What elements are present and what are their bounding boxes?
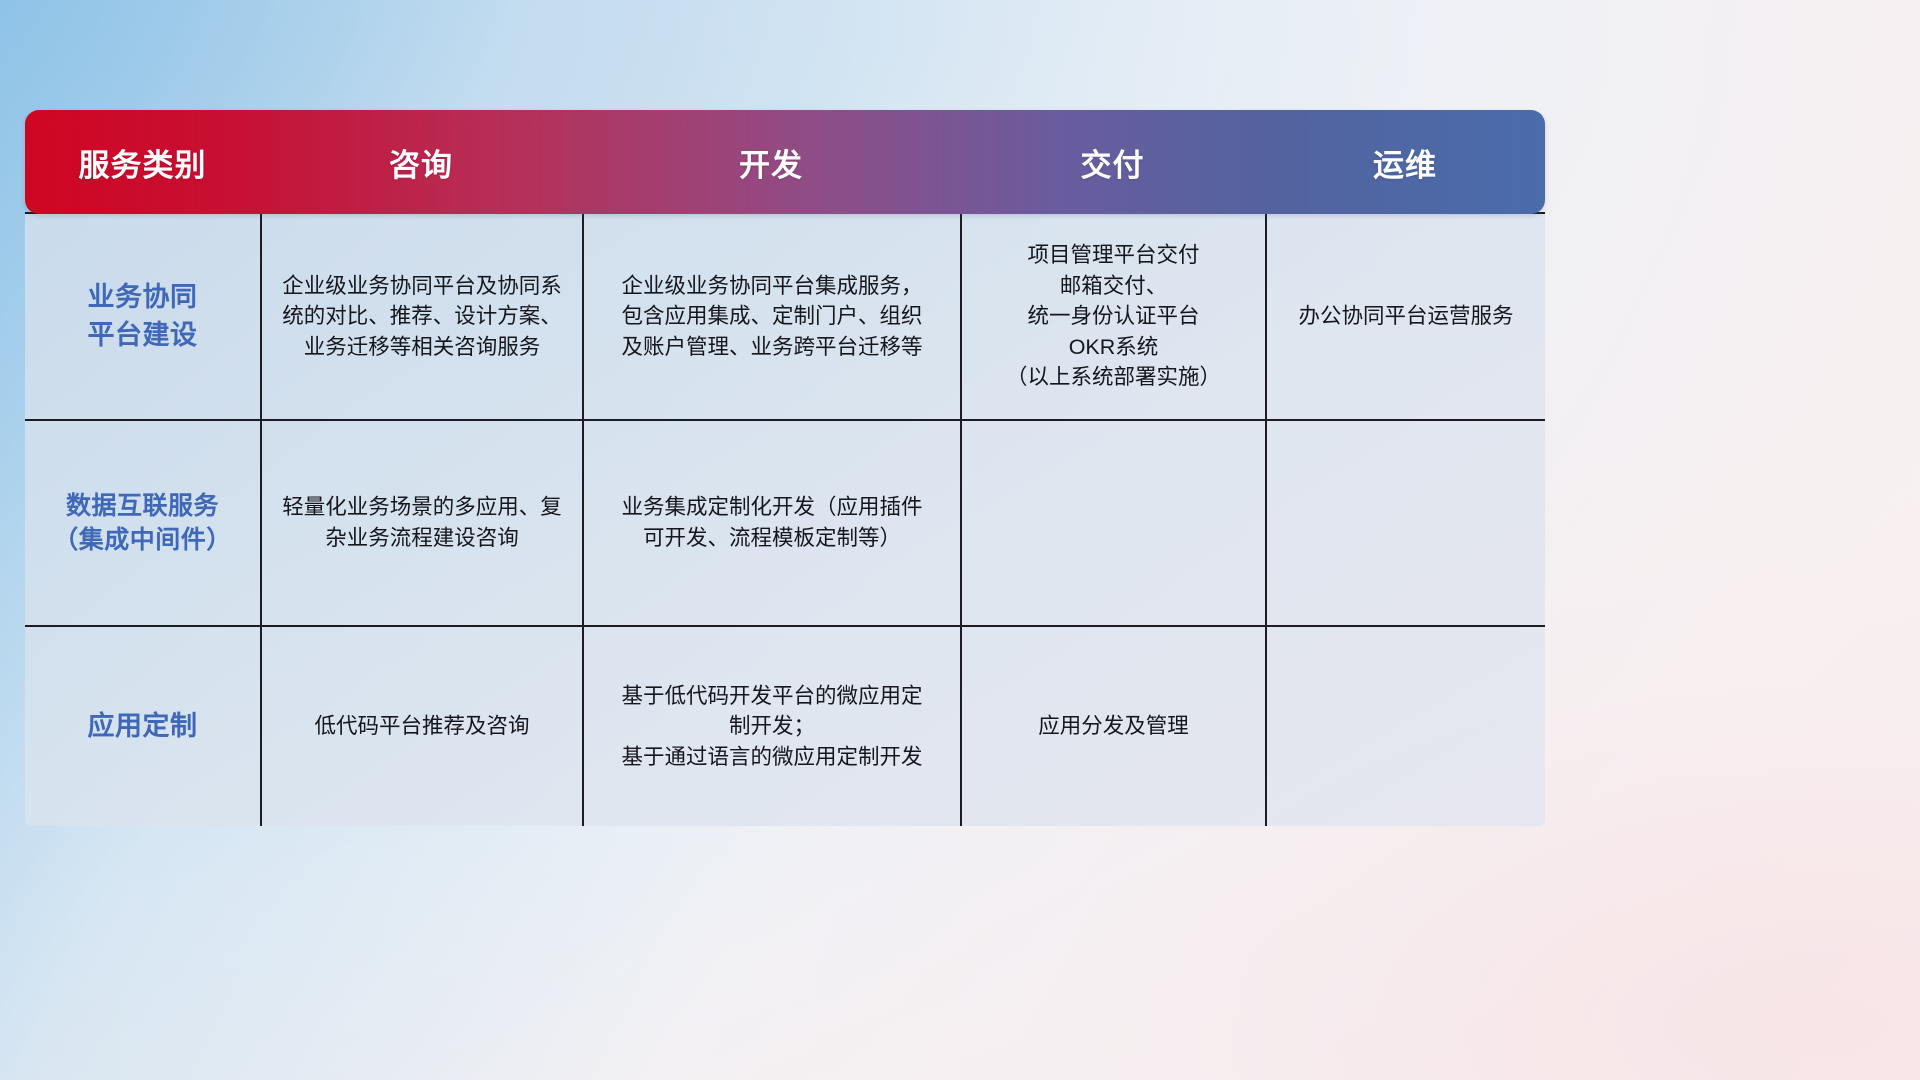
table-body: 业务协同 平台建设 企业级业务协同平台及协同系 统的对比、推荐、设计方案、 业务… <box>25 212 1545 826</box>
row-category-label: 数据互联服务 （集成中间件） <box>25 421 260 625</box>
column-header-development: 开发 <box>582 140 960 185</box>
cell-consulting: 企业级业务协同平台及协同系 统的对比、推荐、设计方案、 业务迁移等相关咨询服务 <box>260 214 582 419</box>
cell-operations: 办公协同平台运营服务 <box>1265 214 1545 419</box>
cell-development: 业务集成定制化开发（应用插件 可开发、流程模板定制等） <box>582 421 960 625</box>
cell-development: 基于低代码开发平台的微应用定 制开发； 基于通过语言的微应用定制开发 <box>582 627 960 826</box>
column-header-consulting: 咨询 <box>260 140 582 185</box>
cell-development: 企业级业务协同平台集成服务， 包含应用集成、定制门户、组织 及账户管理、业务跨平… <box>582 214 960 419</box>
cell-delivery: 项目管理平台交付 邮箱交付、 统一身份认证平台 OKR系统 （以上系统部署实施） <box>960 214 1265 419</box>
table-header-row: 服务类别 咨询 开发 交付 运维 <box>25 110 1545 214</box>
table-row: 应用定制 低代码平台推荐及咨询 基于低代码开发平台的微应用定 制开发； 基于通过… <box>25 625 1545 826</box>
table-row: 业务协同 平台建设 企业级业务协同平台及协同系 统的对比、推荐、设计方案、 业务… <box>25 212 1545 419</box>
row-category-label: 应用定制 <box>25 627 260 826</box>
row-category-label: 业务协同 平台建设 <box>25 214 260 419</box>
column-header-operations: 运维 <box>1265 140 1545 185</box>
cell-delivery <box>960 421 1265 625</box>
column-header-category: 服务类别 <box>25 140 260 185</box>
cell-operations <box>1265 421 1545 625</box>
cell-consulting: 轻量化业务场景的多应用、复 杂业务流程建设咨询 <box>260 421 582 625</box>
table-row: 数据互联服务 （集成中间件） 轻量化业务场景的多应用、复 杂业务流程建设咨询 业… <box>25 419 1545 625</box>
cell-delivery: 应用分发及管理 <box>960 627 1265 826</box>
service-matrix-table: 服务类别 咨询 开发 交付 运维 业务协同 平台建设 企业级业务协同平台及协同系… <box>25 110 1545 775</box>
column-header-delivery: 交付 <box>960 140 1265 185</box>
cell-operations <box>1265 627 1545 826</box>
cell-consulting: 低代码平台推荐及咨询 <box>260 627 582 826</box>
